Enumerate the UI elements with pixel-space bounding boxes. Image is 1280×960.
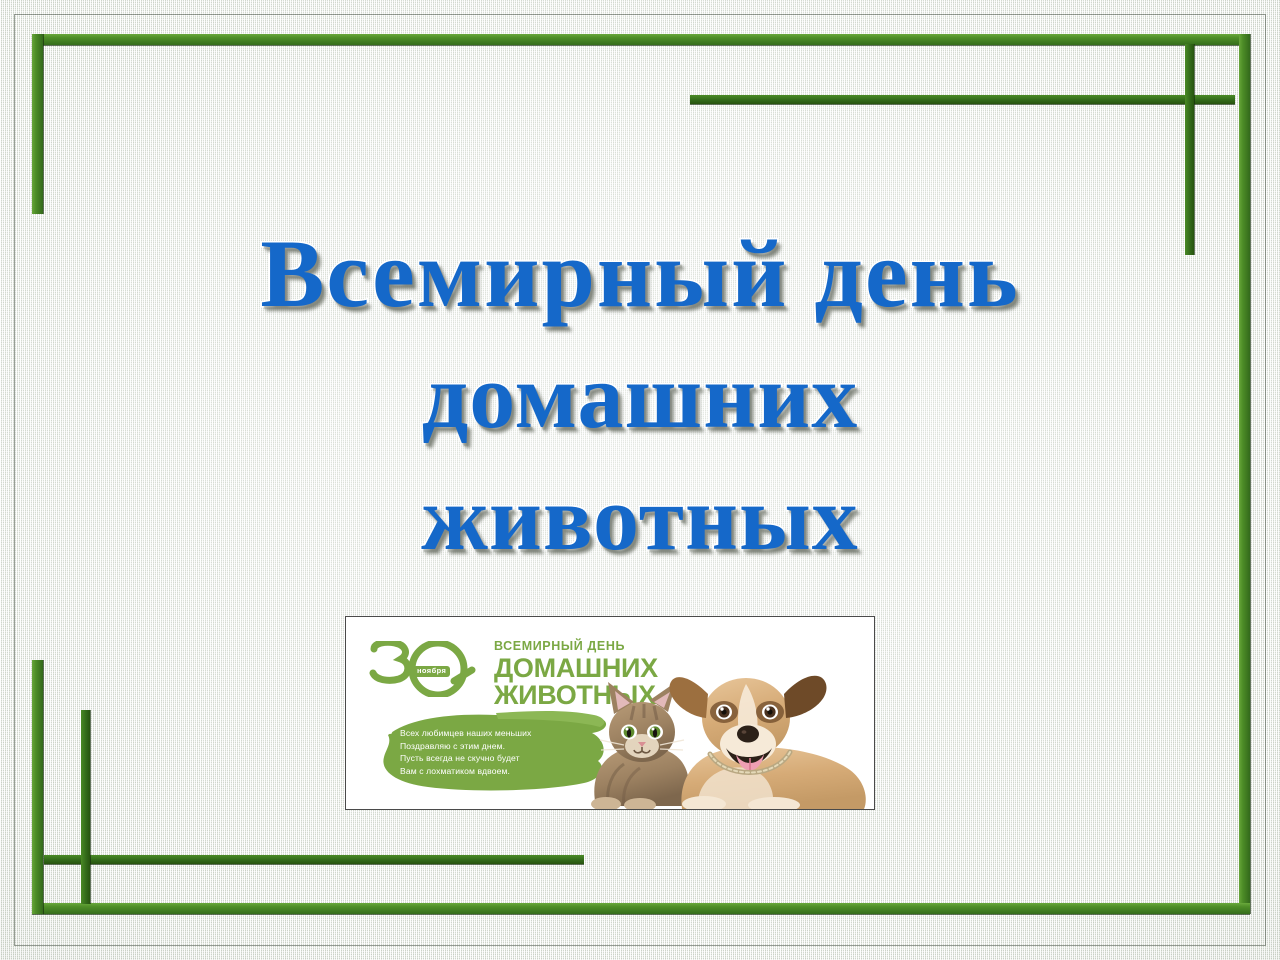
banner-quote-line-2: Поздравляю с этим днем. — [400, 740, 600, 753]
banner-quote: ❞ Всех любимцев наших меньших Поздравляю… — [400, 727, 600, 778]
title-line-3: животных — [0, 472, 1280, 564]
dog-figure — [669, 676, 865, 809]
banner-quote-line-1: Всех любимцев наших меньших — [400, 727, 600, 740]
cat-figure — [591, 682, 689, 809]
banner-heading-small: ВСЕМИРНЫЙ ДЕНЬ — [494, 640, 658, 654]
frame-inner-top-horizontal — [690, 95, 1235, 104]
frame-bottom-bar — [32, 903, 1250, 914]
frame-left-bar — [32, 34, 43, 214]
title-line-1: Всемирный день — [0, 226, 1280, 322]
quote-mark-icon: ❞ — [384, 728, 393, 743]
presentation-slide: Всемирный день домашних животных ноября … — [0, 0, 1280, 960]
banner-quote-line-4: Вам с лохматиком вдвоем. — [400, 765, 600, 778]
frame-inner-top-vertical — [1185, 44, 1194, 255]
banner-cat-and-dog-photo — [578, 654, 868, 809]
frame-top-bar — [32, 34, 1250, 45]
title-line-2: домашних — [0, 350, 1280, 442]
banner-date-mark: ноября — [368, 641, 486, 697]
frame-inner-bottom-vertical — [81, 710, 90, 904]
banner-month-pill: ноября — [413, 666, 450, 677]
frame-inner-bottom-horizontal — [44, 855, 584, 864]
page-title: Всемирный день домашних животных — [0, 226, 1280, 564]
pet-day-banner-image: ноября ВСЕМИРНЫЙ ДЕНЬ ДОМАШНИХ ЖИВОТНЫХ … — [345, 616, 875, 810]
frame-left-lower-bar — [32, 660, 43, 914]
banner-quote-line-3: Пусть всегда не скучно будет — [400, 752, 600, 765]
